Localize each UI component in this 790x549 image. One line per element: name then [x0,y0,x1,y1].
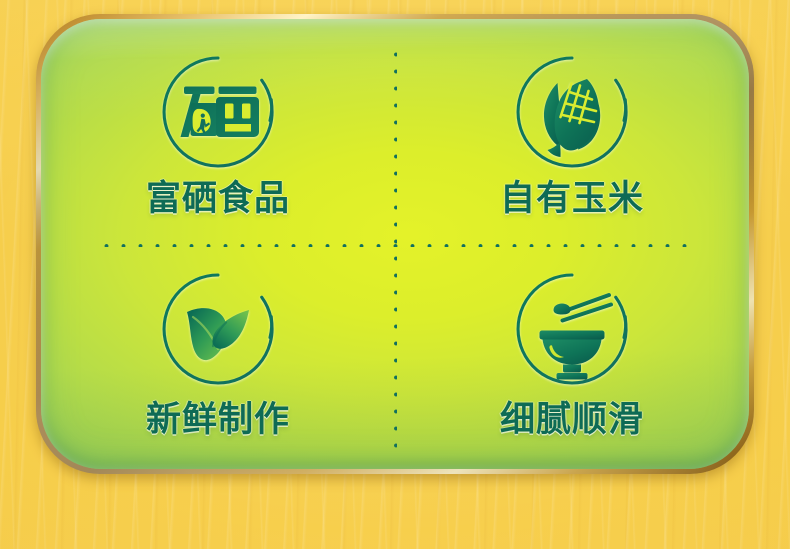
feature-label: 细腻顺滑 [500,402,644,439]
corn-cob-icon [511,51,633,173]
feature-cell-selenium-rich-food[interactable]: 富硒食品 [41,19,395,244]
feature-label: 富硒食品 [146,181,290,218]
product-feature-banner: 富硒食品 [0,0,790,549]
feature-label: 自有玉米 [500,181,644,218]
feature-cell-freshly-made[interactable]: 新鲜制作 [41,244,395,469]
sprout-leaves-icon [157,268,279,390]
feature-label: 新鲜制作 [146,402,290,439]
feature-cell-own-corn[interactable]: 自有玉米 [395,19,749,244]
selenium-character-icon [157,51,279,173]
feature-grid: 富硒食品 [0,0,790,549]
noodle-bowl-chopsticks-icon [511,268,633,390]
feature-cell-fine-and-smooth[interactable]: 细腻顺滑 [395,244,749,469]
